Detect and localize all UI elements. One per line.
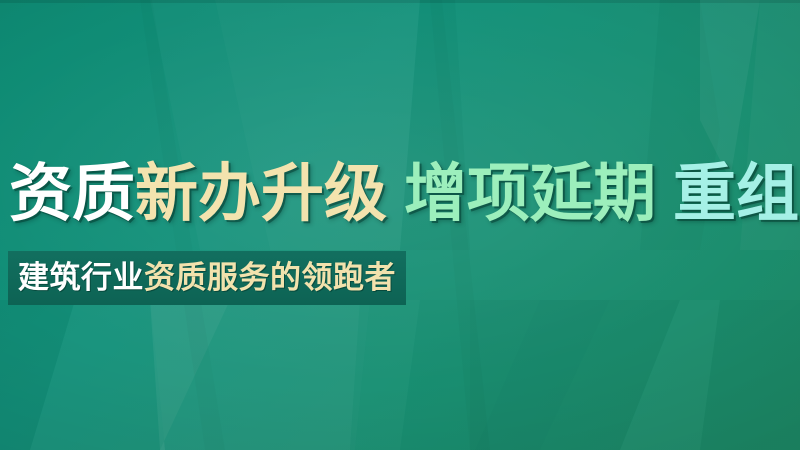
headline-segment-new-upgrade: 新办升级 [135,159,387,229]
headline-segment-qualification: 资质 [9,159,135,229]
promo-banner: 资质新办升级增项延期重组分立 建筑行业资质服务的领跑者 [0,0,800,450]
headline-segment-add-extend: 增项延期 [404,159,656,229]
headline-segment-restructure-split: 重组分立 [673,159,800,229]
headline: 资质新办升级增项延期重组分立 [9,156,791,232]
subtitle-segment-service-leader: 资质服务的领跑者 [144,260,396,295]
banner-content: 资质新办升级增项延期重组分立 建筑行业资质服务的领跑者 [0,0,800,450]
subtitle: 建筑行业资质服务的领跑者 [18,256,396,300]
subtitle-segment-industry: 建筑行业 [18,260,144,295]
